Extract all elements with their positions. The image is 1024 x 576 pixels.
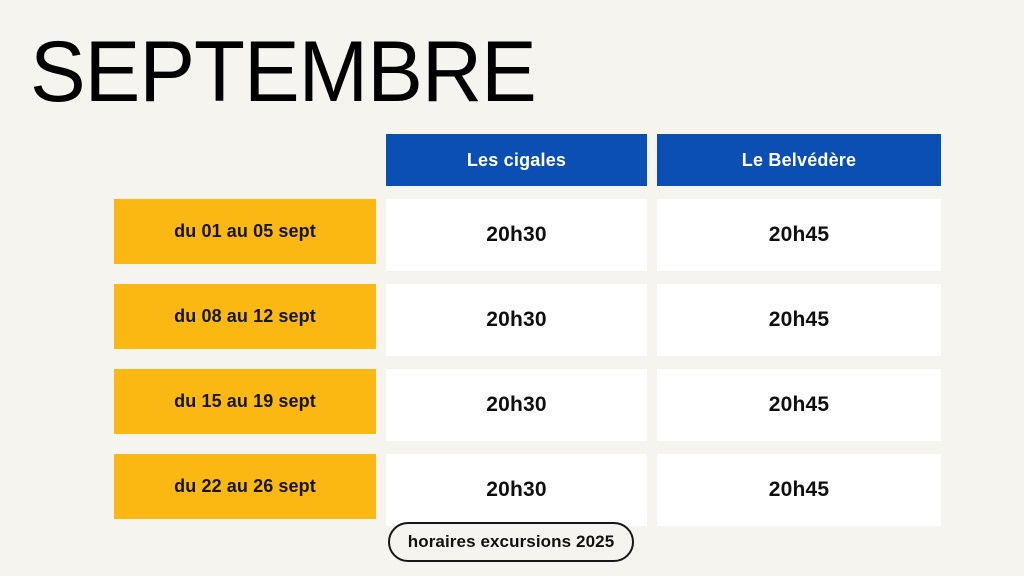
- table-header-row: Les cigales Le Belvédère: [114, 134, 940, 186]
- time-le-belvedere: 20h45: [657, 284, 941, 356]
- time-le-belvedere: 20h45: [657, 454, 941, 526]
- table-header-les-cigales: Les cigales: [386, 134, 647, 186]
- page-title: SEPTEMBRE: [30, 24, 536, 120]
- table-header-le-belvedere: Le Belvédère: [657, 134, 941, 186]
- period-label: du 22 au 26 sept: [114, 454, 376, 519]
- footer-badge: horaires excursions 2025: [388, 522, 634, 562]
- table-row: du 01 au 05 sept 20h30 20h45: [114, 199, 940, 271]
- period-label: du 01 au 05 sept: [114, 199, 376, 264]
- time-les-cigales: 20h30: [386, 199, 647, 271]
- period-label: du 15 au 19 sept: [114, 369, 376, 434]
- table-header-corner-spacer: [114, 134, 376, 186]
- table-row: du 08 au 12 sept 20h30 20h45: [114, 284, 940, 356]
- time-les-cigales: 20h30: [386, 369, 647, 441]
- schedule-table: Les cigales Le Belvédère du 01 au 05 sep…: [114, 134, 940, 526]
- time-le-belvedere: 20h45: [657, 369, 941, 441]
- period-label: du 08 au 12 sept: [114, 284, 376, 349]
- time-les-cigales: 20h30: [386, 284, 647, 356]
- time-le-belvedere: 20h45: [657, 199, 941, 271]
- slide-canvas: SEPTEMBRE Les cigales Le Belvédère du 01…: [0, 0, 1024, 576]
- time-les-cigales: 20h30: [386, 454, 647, 526]
- table-row: du 15 au 19 sept 20h30 20h45: [114, 369, 940, 441]
- table-row: du 22 au 26 sept 20h30 20h45: [114, 454, 940, 526]
